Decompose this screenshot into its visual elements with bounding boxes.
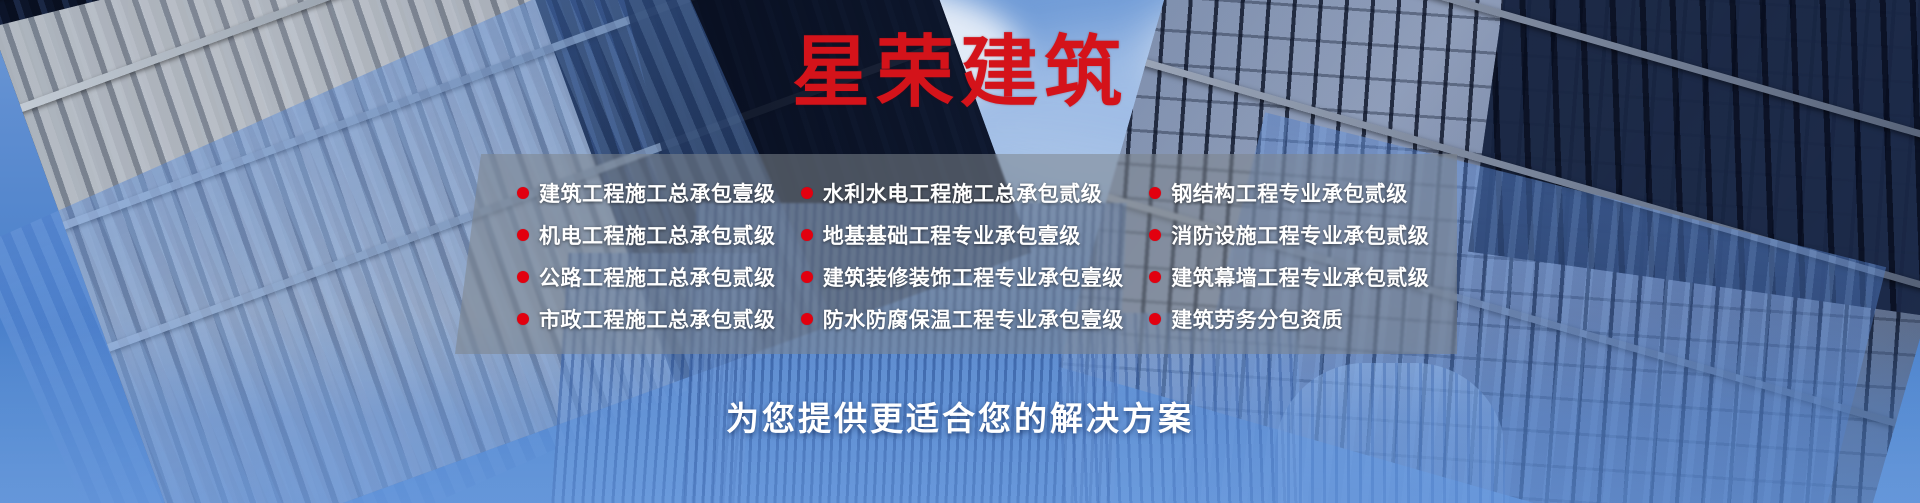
list-item: 机电工程施工总承包贰级	[517, 214, 783, 256]
tagline-text: 为您提供更适合您的解决方案	[726, 399, 1194, 438]
bullet-dot-icon	[801, 313, 813, 325]
qualification-label: 建筑装修装饰工程专业承包壹级	[823, 262, 1124, 292]
qualification-label: 消防设施工程专业承包贰级	[1171, 220, 1429, 250]
qualification-label: 机电工程施工总承包贰级	[539, 220, 776, 250]
list-item: 防水防腐保温工程专业承包壹级	[801, 298, 1127, 340]
list-item: 市政工程施工总承包贰级	[517, 298, 783, 340]
bullet-dot-icon	[517, 271, 529, 283]
qualifications-panel: 建筑工程施工总承包壹级 机电工程施工总承包贰级 公路工程施工总承包贰级 市政工程…	[455, 154, 1457, 354]
qualification-label: 建筑幕墙工程专业承包贰级	[1171, 262, 1429, 292]
list-item: 建筑装修装饰工程专业承包壹级	[801, 256, 1127, 298]
list-item: 建筑劳务分包资质	[1149, 298, 1457, 340]
bullet-dot-icon	[801, 229, 813, 241]
qualification-label: 防水防腐保温工程专业承包壹级	[823, 304, 1124, 334]
bullet-dot-icon	[517, 313, 529, 325]
list-item: 水利水电工程施工总承包贰级	[801, 172, 1127, 214]
list-item: 地基基础工程专业承包壹级	[801, 214, 1127, 256]
bullet-dot-icon	[801, 271, 813, 283]
list-item: 消防设施工程专业承包贰级	[1149, 214, 1457, 256]
qualification-label: 水利水电工程施工总承包贰级	[823, 178, 1103, 208]
bullet-dot-icon	[1149, 229, 1161, 241]
hero-banner: 星荣建筑 建筑工程施工总承包壹级 机电工程施工总承包贰级 公路工程施工总承包贰级	[0, 0, 1920, 503]
qualifications-column-3: 钢结构工程专业承包贰级 消防设施工程专业承包贰级 建筑幕墙工程专业承包贰级 建筑…	[1127, 172, 1457, 354]
bullet-dot-icon	[1149, 313, 1161, 325]
qualification-label: 建筑劳务分包资质	[1171, 304, 1343, 334]
bullet-dot-icon	[1149, 187, 1161, 199]
qualification-label: 钢结构工程专业承包贰级	[1171, 178, 1408, 208]
page-title: 星荣建筑	[0, 34, 1920, 112]
list-item: 钢结构工程专业承包贰级	[1149, 172, 1457, 214]
qualifications-column-1: 建筑工程施工总承包壹级 机电工程施工总承包贰级 公路工程施工总承包贰级 市政工程…	[455, 172, 783, 354]
list-item: 公路工程施工总承包贰级	[517, 256, 783, 298]
company-name: 星荣建筑	[792, 34, 1128, 112]
bullet-dot-icon	[517, 187, 529, 199]
list-item: 建筑幕墙工程专业承包贰级	[1149, 256, 1457, 298]
qualification-label: 地基基础工程专业承包壹级	[823, 220, 1081, 250]
bullet-dot-icon	[801, 187, 813, 199]
qualification-label: 公路工程施工总承包贰级	[539, 262, 776, 292]
qualification-label: 建筑工程施工总承包壹级	[539, 178, 776, 208]
bullet-dot-icon	[517, 229, 529, 241]
bullet-dot-icon	[1149, 271, 1161, 283]
qualifications-column-2: 水利水电工程施工总承包贰级 地基基础工程专业承包壹级 建筑装修装饰工程专业承包壹…	[783, 172, 1127, 354]
qualification-label: 市政工程施工总承包贰级	[539, 304, 776, 334]
tagline: 为您提供更适合您的解决方案	[0, 392, 1920, 440]
list-item: 建筑工程施工总承包壹级	[517, 172, 783, 214]
